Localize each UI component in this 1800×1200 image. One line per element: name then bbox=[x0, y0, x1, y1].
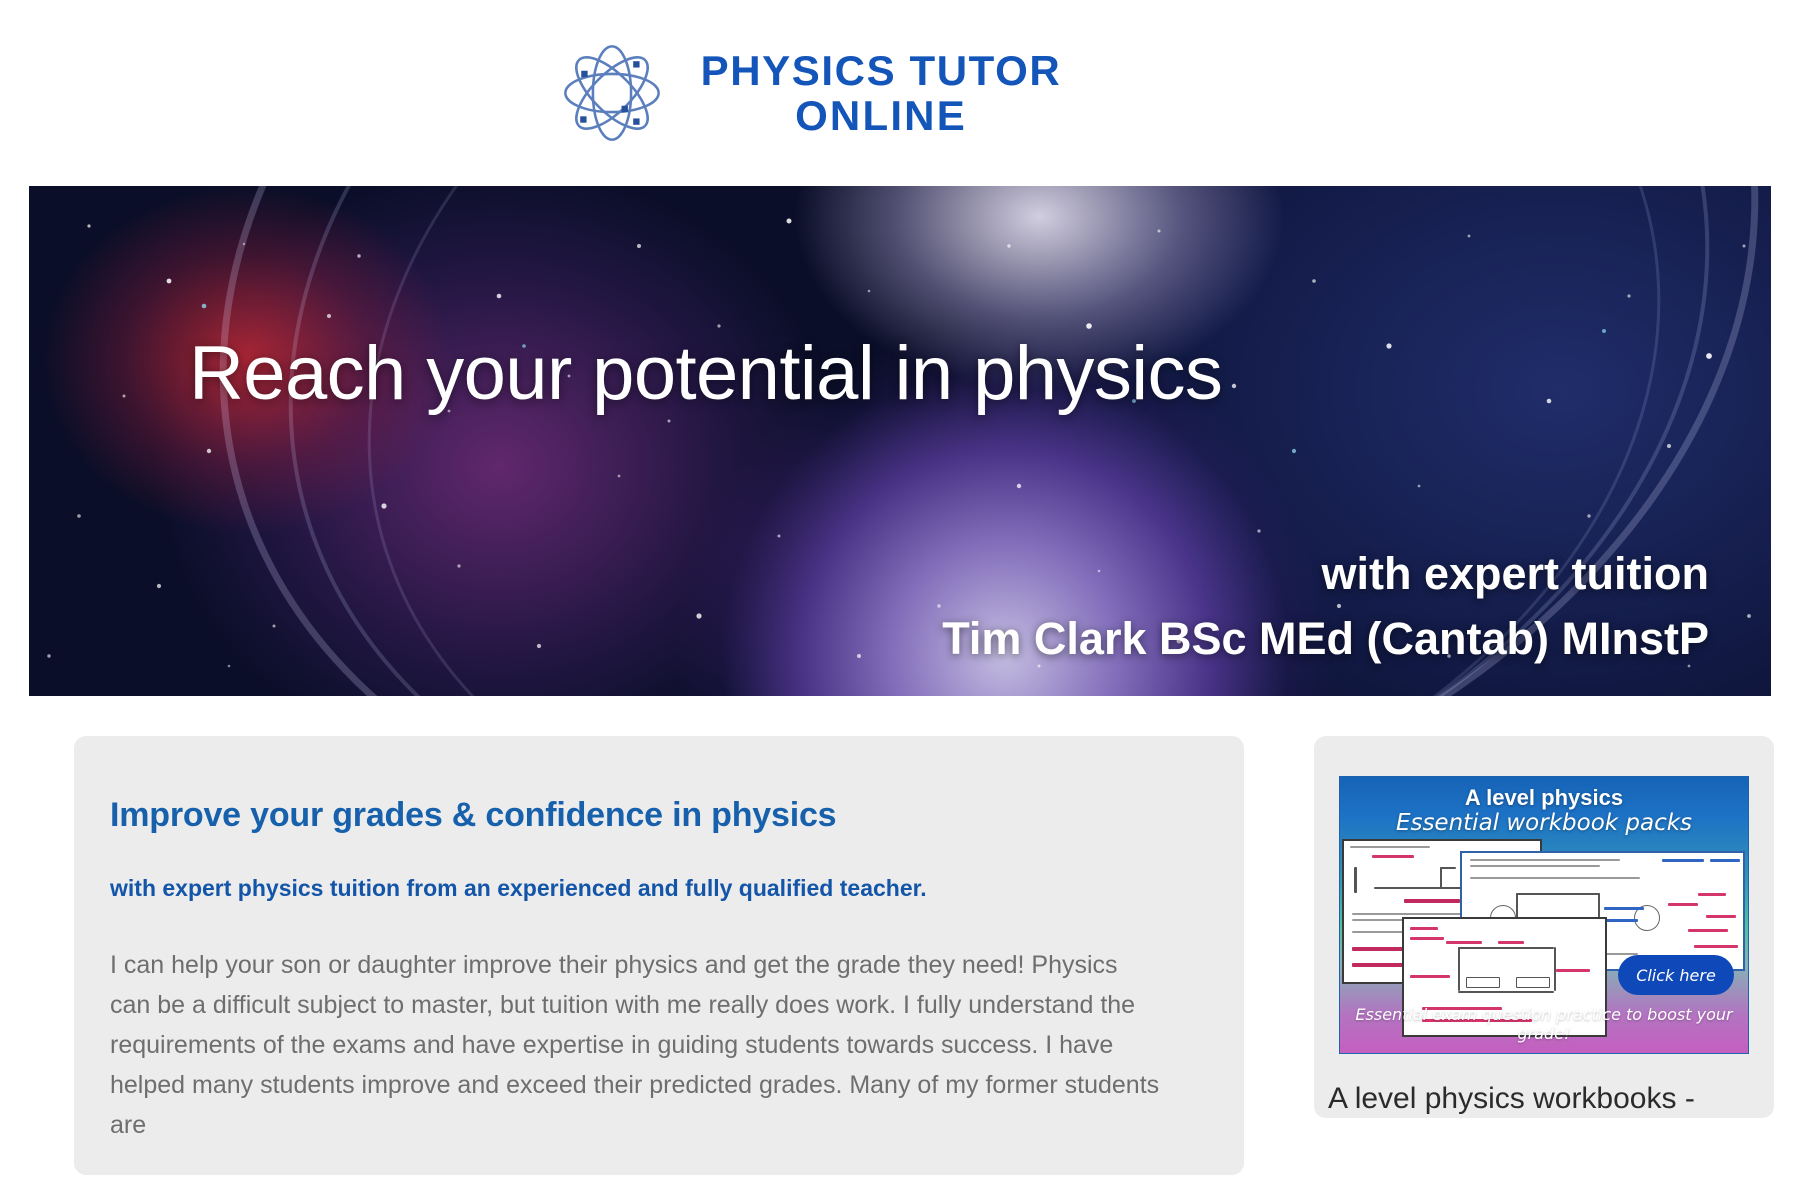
hero-subtitle-block: with expert tuition Tim Clark BSc MEd (C… bbox=[189, 550, 1725, 663]
hero-subtitle: with expert tuition bbox=[189, 550, 1709, 597]
page-subtitle: with expert physics tuition from an expe… bbox=[110, 875, 1170, 903]
atom-icon bbox=[559, 40, 665, 146]
hero-banner-wrap: Reach your potential in physics with exp… bbox=[0, 186, 1800, 696]
main-content-card: Improve your grades & confidence in phys… bbox=[74, 736, 1244, 1175]
site-header: PHYSICS TUTOR ONLINE bbox=[0, 0, 1800, 186]
promo-title-line-1: A level physics bbox=[1340, 785, 1748, 811]
brand-line-1: PHYSICS TUTOR bbox=[701, 48, 1062, 93]
sidebar-heading: A level physics workbooks - bbox=[1314, 1054, 1774, 1118]
hero-credential: Tim Clark BSc MEd (Cantab) MInstP bbox=[189, 615, 1709, 662]
promo-caption: Essential exam question practice to boos… bbox=[1340, 1005, 1748, 1043]
brand-line-2: ONLINE bbox=[795, 93, 967, 138]
intro-paragraph: I can help your son or daughter improve … bbox=[110, 945, 1160, 1145]
hero-banner: Reach your potential in physics with exp… bbox=[29, 186, 1771, 696]
content-row: Improve your grades & confidence in phys… bbox=[0, 696, 1800, 1175]
sidebar-card: A level physics Essential workbook packs bbox=[1314, 736, 1774, 1118]
brand-text: PHYSICS TUTOR ONLINE bbox=[701, 48, 1062, 139]
page-title: Improve your grades & confidence in phys… bbox=[110, 796, 1170, 835]
site-logo[interactable]: PHYSICS TUTOR ONLINE bbox=[559, 40, 1062, 146]
workbook-promo-image[interactable]: A level physics Essential workbook packs bbox=[1339, 776, 1749, 1054]
hero-title: Reach your potential in physics bbox=[189, 336, 1725, 412]
promo-click-here-button[interactable]: Click here bbox=[1618, 955, 1734, 995]
hero-copy: Reach your potential in physics with exp… bbox=[29, 186, 1771, 696]
promo-title-line-2: Essential workbook packs bbox=[1340, 810, 1748, 836]
